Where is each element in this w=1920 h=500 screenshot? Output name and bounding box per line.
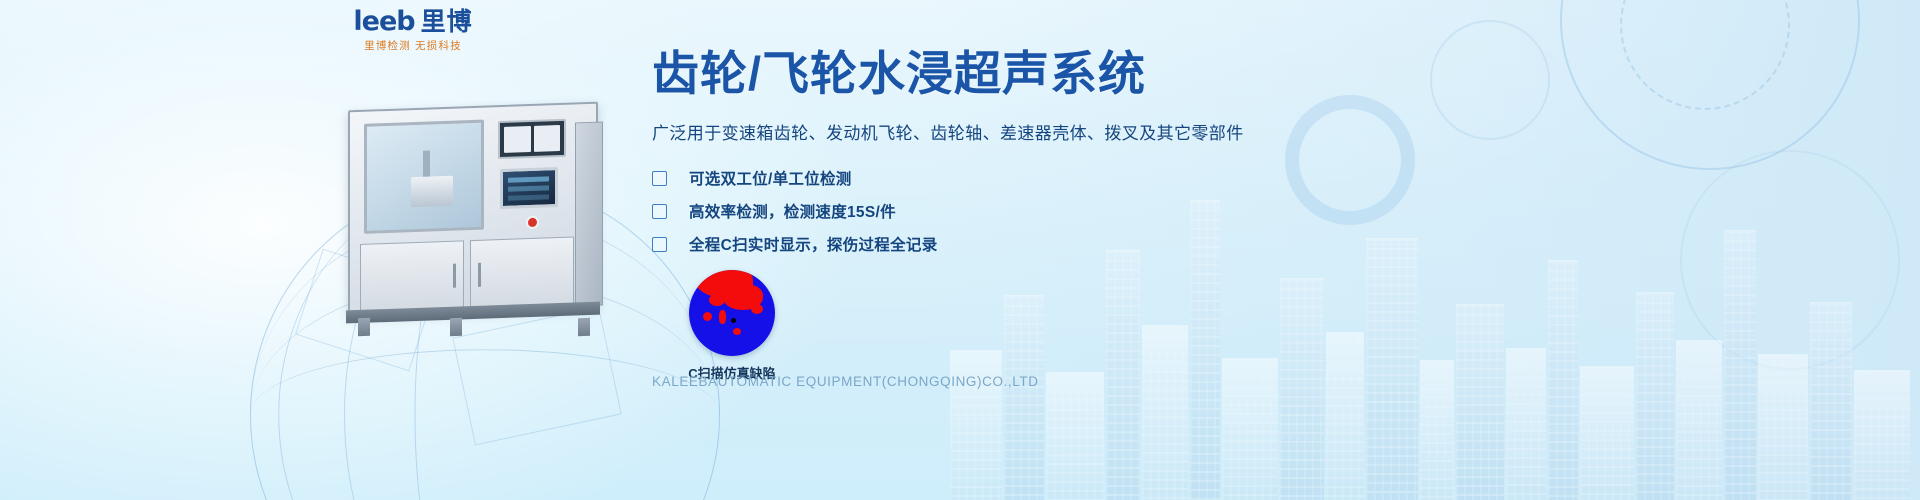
checkbox-icon — [652, 171, 667, 186]
machine-leg — [578, 318, 590, 336]
checkbox-icon — [652, 237, 667, 252]
machine-leg — [450, 318, 462, 336]
machine-indicator-panel — [498, 119, 566, 159]
page-title: 齿轮/飞轮水浸超声系统 — [652, 48, 1272, 101]
product-photo-ultrasonic-machine — [330, 100, 615, 345]
machine-side-panel — [575, 121, 603, 306]
machine-workpiece — [411, 176, 453, 207]
logo-wordmark: leeb 里博 — [343, 8, 483, 35]
machine-emergency-stop-button — [528, 218, 537, 227]
feature-list: 可选双工位/单工位检测 高效率检测，检测速度15S/件 全程C扫实时显示，探伤过… — [652, 162, 1272, 261]
feature-label: 高效率检测，检测速度15S/件 — [689, 200, 896, 222]
cscan-center-marker — [731, 318, 736, 323]
machine-door-left — [360, 240, 464, 314]
list-item: 可选双工位/单工位检测 — [652, 162, 1272, 195]
machine-door-right — [470, 236, 574, 310]
feature-label: 全程C扫实时显示，探伤过程全记录 — [689, 233, 938, 255]
hero-content: 齿轮/飞轮水浸超声系统 广泛用于变速箱齿轮、发动机飞轮、齿轮轴、差速器壳体、拨叉… — [652, 48, 1272, 261]
promo-banner: leeb 里博 里博检测 无损科技 齿轮/飞轮水浸超声系统 广泛用于变速箱齿轮、… — [0, 0, 1920, 500]
list-item: 高效率检测，检测速度15S/件 — [652, 195, 1272, 228]
machine-leg — [358, 318, 370, 336]
machine-viewing-window — [364, 120, 484, 234]
logo-tagline: 里博检测 无损科技 — [343, 38, 483, 53]
company-name-footer: KALEEBAUTOMATIC EQUIPMENT(CHONGQING)CO.,… — [652, 374, 1039, 389]
machine-cabinet — [348, 102, 598, 316]
cscan-defect-image — [689, 270, 775, 356]
feature-label: 可选双工位/单工位检测 — [689, 167, 852, 189]
logo-latin-text: leeb — [353, 8, 414, 35]
machine-hmi-screen — [500, 167, 558, 209]
hero-subtitle: 广泛用于变速箱齿轮、发动机飞轮、齿轮轴、差速器壳体、拨叉及其它零部件 — [652, 119, 1272, 144]
list-item: 全程C扫实时显示，探伤过程全记录 — [652, 228, 1272, 261]
logo-chinese-text: 里博 — [421, 10, 473, 35]
checkbox-icon — [652, 204, 667, 219]
cscan-sample: C扫描仿真缺陷 — [672, 270, 792, 382]
company-logo[interactable]: leeb 里博 里博检测 无损科技 — [343, 8, 483, 53]
